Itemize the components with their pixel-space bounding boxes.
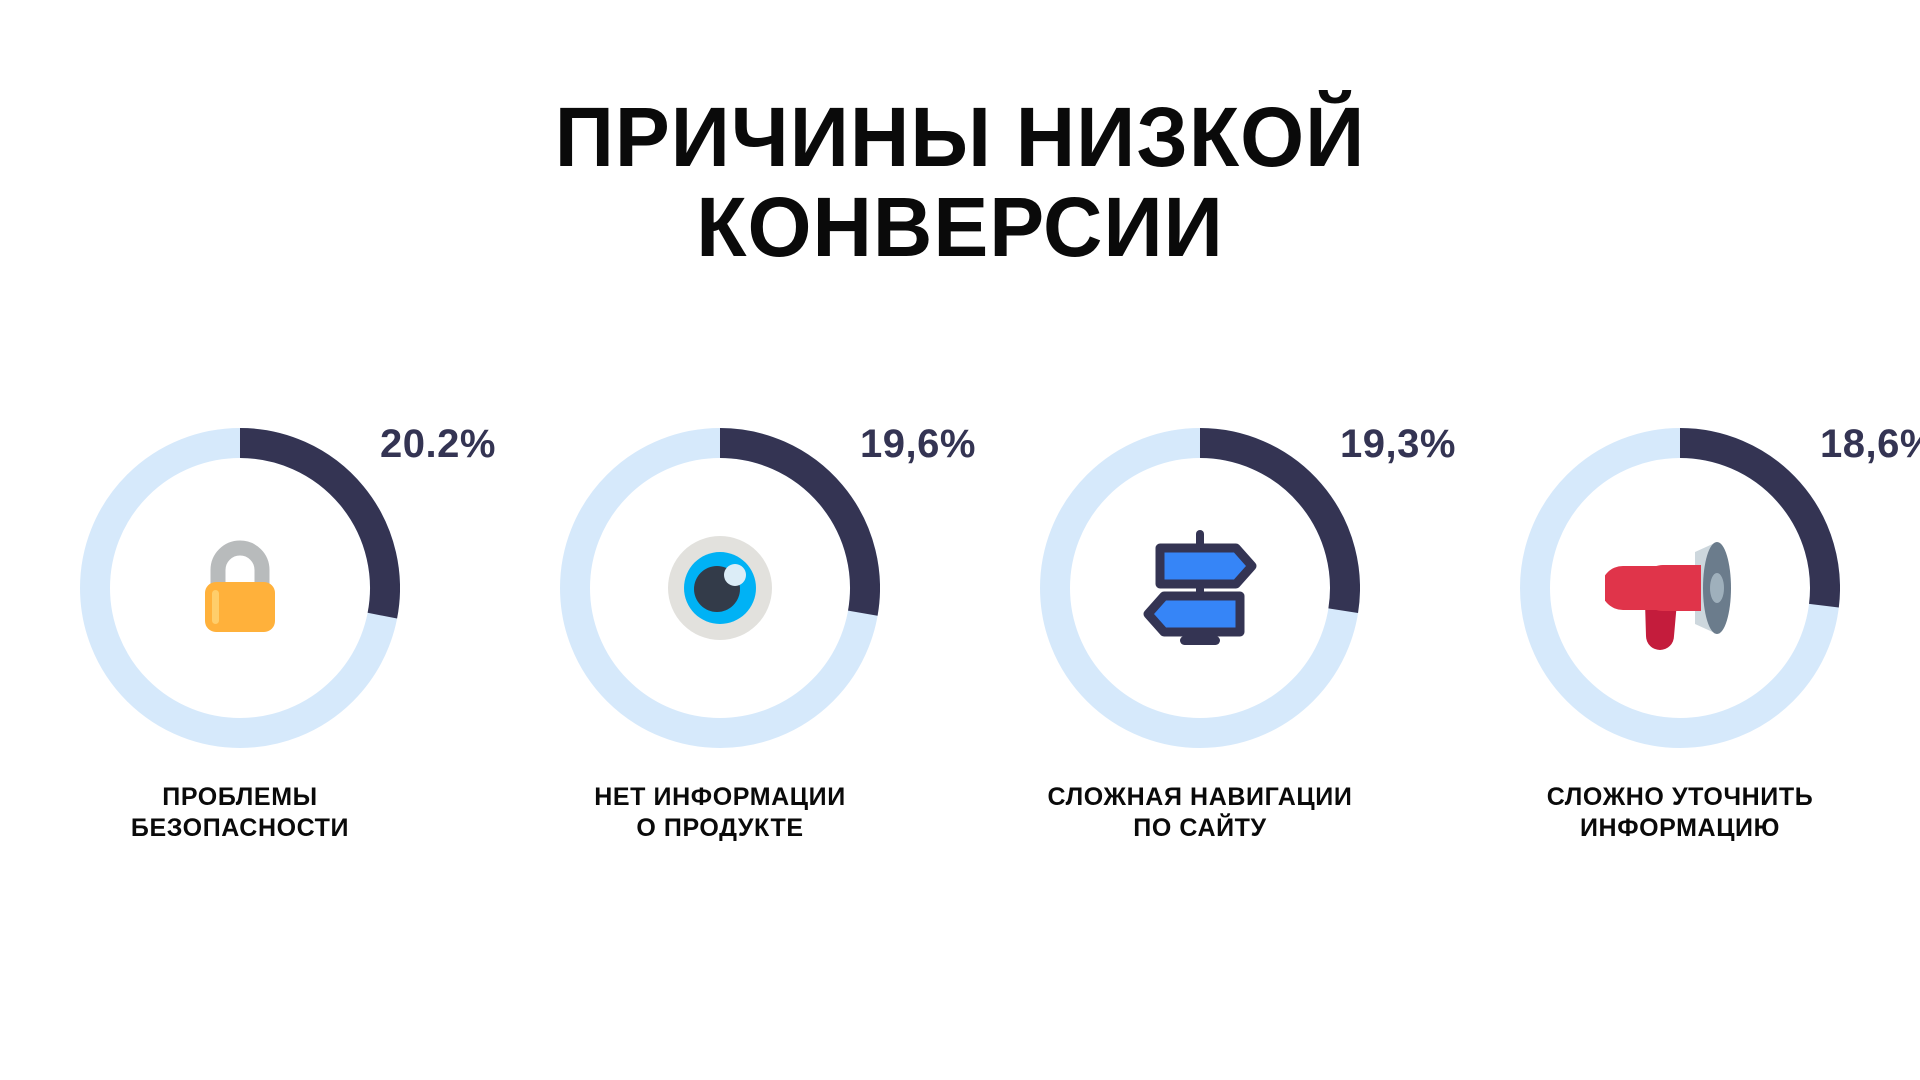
donut-caption-no-product-info-line-1: НЕТ ИНФОРМАЦИИ xyxy=(594,782,846,813)
donut-card-row: 20.2% ПРОБЛЕМЫ БЕЗОПАСНОСТИ xyxy=(0,428,1920,843)
page-title-line-2: КОНВЕРСИИ xyxy=(19,186,1901,268)
donut-card-navigation: 19,3% СЛОЖНАЯ НАВИГАЦИИ ПО САЙТУ xyxy=(960,428,1440,843)
donut-chart-security: 20.2% xyxy=(80,428,400,748)
donut-caption-navigation-line-2: ПО САЙТУ xyxy=(1048,813,1353,844)
donut-svg-clarify-info xyxy=(1520,428,1840,748)
donut-card-security: 20.2% ПРОБЛЕМЫ БЕЗОПАСНОСТИ xyxy=(0,428,480,843)
donut-caption-clarify-info: СЛОЖНО УТОЧНИТЬ ИНФОРМАЦИЮ xyxy=(1547,782,1814,843)
donut-svg-navigation xyxy=(1040,428,1360,748)
donut-caption-security: ПРОБЛЕМЫ БЕЗОПАСНОСТИ xyxy=(131,782,349,843)
donut-value-arc-navigation xyxy=(1200,443,1345,611)
donut-svg-no-product-info xyxy=(560,428,880,748)
donut-caption-navigation: СЛОЖНАЯ НАВИГАЦИИ ПО САЙТУ xyxy=(1048,782,1353,843)
donut-percent-no-product-info: 19,6% xyxy=(860,422,976,467)
donut-caption-no-product-info: НЕТ ИНФОРМАЦИИ О ПРОДУКТЕ xyxy=(594,782,846,843)
donut-svg-security xyxy=(80,428,400,748)
donut-chart-navigation: 19,3% xyxy=(1040,428,1360,748)
donut-value-arc-clarify-info xyxy=(1680,443,1825,606)
donut-caption-security-line-1: ПРОБЛЕМЫ xyxy=(131,782,349,813)
page-title-line-1: ПРИЧИНЫ НИЗКОЙ xyxy=(19,96,1901,178)
donut-caption-no-product-info-line-2: О ПРОДУКТЕ xyxy=(594,813,846,844)
infographic-slide: ПРИЧИНЫ НИЗКОЙ КОНВЕРСИИ 20.2% xyxy=(0,0,1920,1080)
donut-percent-clarify-info: 18,6% xyxy=(1820,422,1920,467)
donut-percent-navigation: 19,3% xyxy=(1340,422,1456,467)
donut-chart-clarify-info: 18,6% xyxy=(1520,428,1840,748)
donut-value-arc-security xyxy=(240,443,385,616)
donut-caption-clarify-info-line-2: ИНФОРМАЦИЮ xyxy=(1547,813,1814,844)
donut-percent-security: 20.2% xyxy=(380,422,496,467)
donut-caption-security-line-2: БЕЗОПАСНОСТИ xyxy=(131,813,349,844)
donut-card-no-product-info: 19,6% НЕТ ИНФОРМАЦИИ О ПРОДУКТЕ xyxy=(480,428,960,843)
donut-chart-no-product-info: 19,6% xyxy=(560,428,880,748)
donut-caption-clarify-info-line-1: СЛОЖНО УТОЧНИТЬ xyxy=(1547,782,1814,813)
donut-caption-navigation-line-1: СЛОЖНАЯ НАВИГАЦИИ xyxy=(1048,782,1353,813)
donut-card-clarify-info: 18,6% СЛОЖНО УТОЧНИТЬ ИНФОРМАЦИЮ xyxy=(1440,428,1920,843)
donut-value-arc-no-product-info xyxy=(720,443,865,613)
page-title: ПРИЧИНЫ НИЗКОЙ КОНВЕРСИИ xyxy=(0,96,1920,269)
